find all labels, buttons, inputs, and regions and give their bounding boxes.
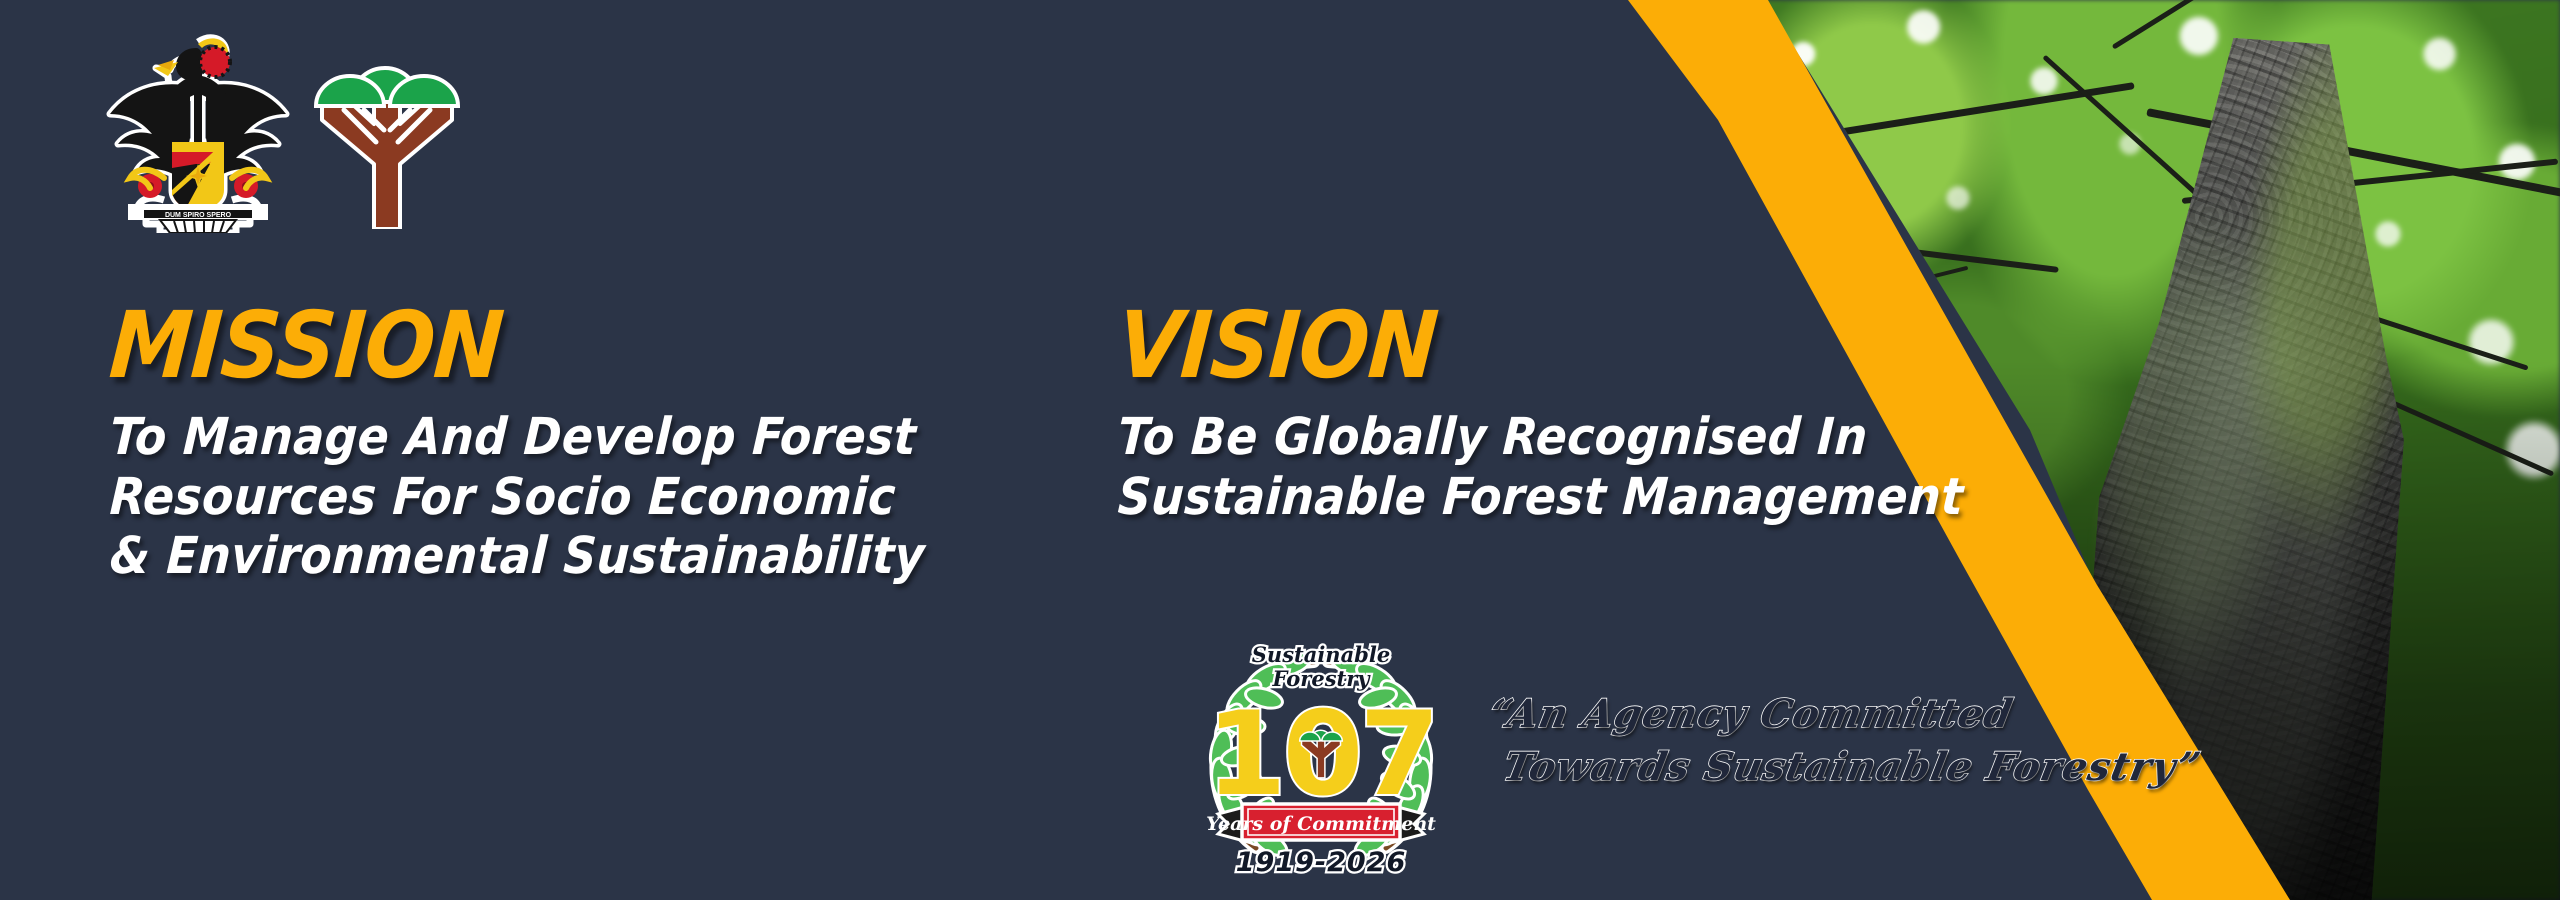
mission-line-1: To Manage And Develop Forest: [108, 408, 1041, 468]
emblem-ribbon-text: Years of Commitment: [1206, 813, 1436, 835]
vision-line-1: To Be Globally Recognised In: [1116, 408, 2079, 468]
vision-block: VISION To Be Globally Recognised In Sust…: [1118, 300, 2078, 527]
mission-line-2: Resources For Socio Economic: [108, 468, 1041, 528]
mission-heading: MISSION: [107, 300, 1043, 392]
vision-heading: VISION: [1115, 300, 2081, 392]
sarawak-coat-of-arms-icon: DUM SPIRO SPERO: [98, 18, 298, 233]
vision-line-2: Sustainable Forest Management: [1116, 468, 2079, 528]
mission-vision-banner: DUM SPIRO SPERO: [0, 0, 2560, 900]
mission-line-3: & Environmental Sustainability: [108, 527, 1041, 587]
emblem-top-line-1: Sustainable: [1252, 642, 1390, 667]
tagline-line-2: Towards Sustainable Forestry”: [1499, 741, 2095, 794]
emblem-ribbon: Years of Commitment: [1206, 804, 1436, 842]
tagline: “An Agency Committed Towards Sustainable…: [1490, 688, 2090, 793]
mission-block: MISSION To Manage And Develop Forest Res…: [110, 300, 1040, 587]
anniversary-107-emblem: Sustainable Forestry 107 Years of Commit…: [1196, 628, 1446, 878]
emblem-years: 1919-2026: [1236, 847, 1407, 878]
tagline-line-1: “An Agency Committed: [1485, 688, 2095, 741]
logo-row: DUM SPIRO SPERO: [98, 18, 462, 233]
forest-department-tree-logo-icon: [312, 44, 462, 229]
crest-motto: DUM SPIRO SPERO: [165, 212, 232, 219]
